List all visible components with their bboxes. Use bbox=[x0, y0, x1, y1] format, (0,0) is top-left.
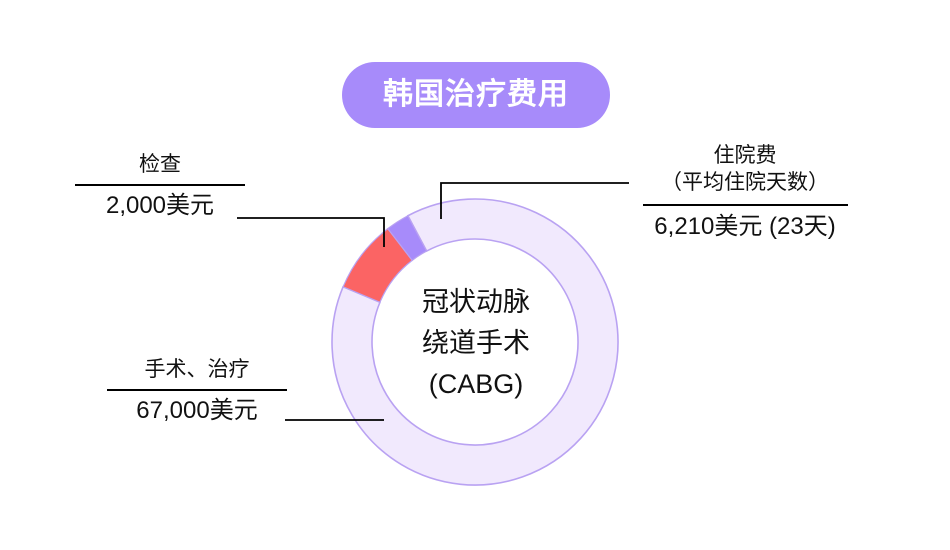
center-line-3: (CABG) bbox=[380, 364, 572, 405]
callout-hospitalization-divider bbox=[643, 204, 848, 206]
callout-examination-category: 检查 bbox=[60, 152, 260, 178]
leader-line-examination bbox=[237, 218, 384, 247]
callout-surgery-category: 手术、治疗 bbox=[96, 357, 298, 383]
callout-surgery-divider bbox=[107, 389, 287, 391]
callout-hospitalization-category-line1: 住院费 bbox=[635, 142, 855, 169]
donut-center-label: 冠状动脉 绕道手术 (CABG) bbox=[380, 282, 572, 405]
callout-hospitalization-value: 6,210美元 (23天) bbox=[635, 210, 855, 244]
callout-hospitalization-category-line2: （平均住院天数） bbox=[635, 169, 855, 196]
callout-examination-divider bbox=[75, 184, 245, 186]
callout-examination-value: 2,000美元 bbox=[60, 190, 260, 222]
callout-surgery: 手术、治疗 67,000美元 bbox=[96, 357, 298, 427]
callout-examination: 检查 2,000美元 bbox=[60, 152, 260, 222]
infographic-canvas: 韩国治疗费用 冠状动脉 绕道手术 (CABG) 检查 2,000美元 手术、治疗… bbox=[0, 0, 950, 550]
center-line-1: 冠状动脉 bbox=[380, 282, 572, 323]
donut-chart bbox=[0, 0, 950, 550]
callout-hospitalization: 住院费 （平均住院天数） 6,210美元 (23天) bbox=[635, 142, 855, 244]
center-line-2: 绕道手术 bbox=[380, 323, 572, 364]
callout-surgery-value: 67,000美元 bbox=[96, 395, 298, 427]
